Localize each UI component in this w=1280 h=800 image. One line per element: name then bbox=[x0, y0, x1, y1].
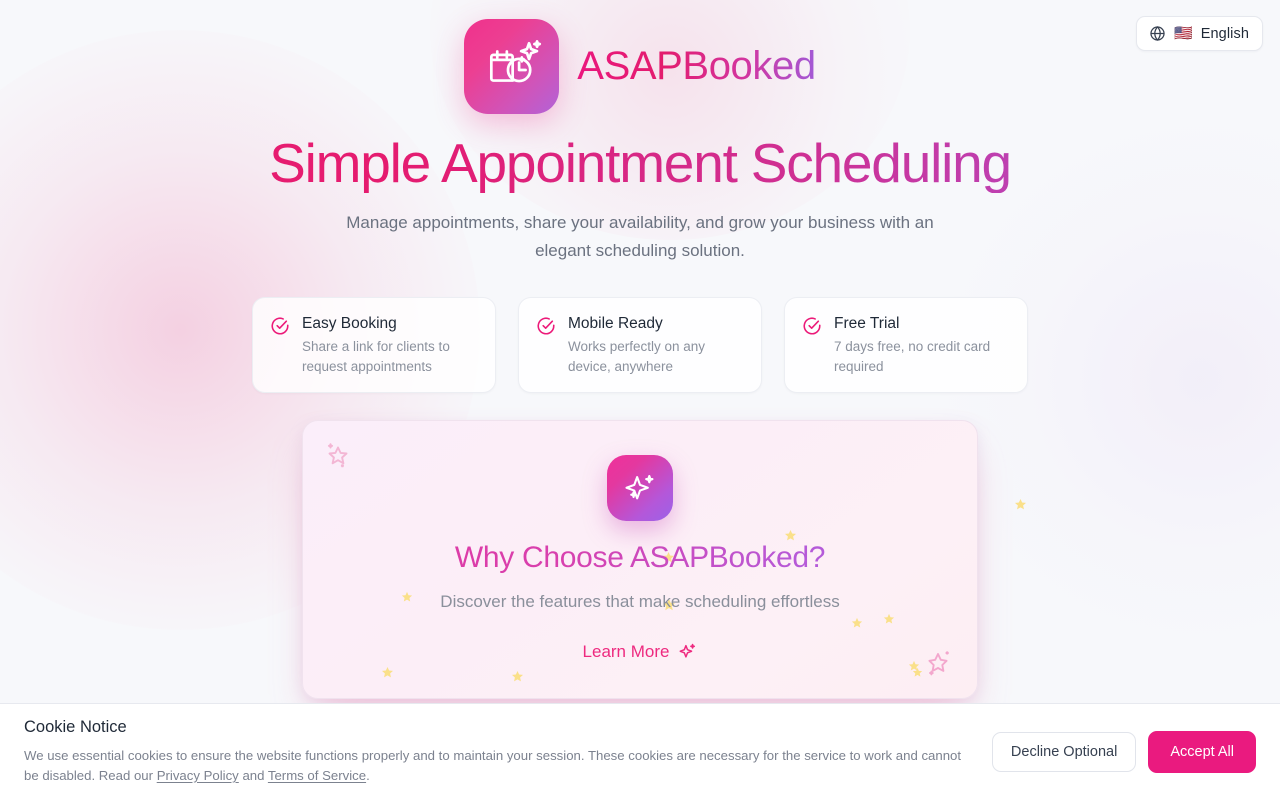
feature-card-list: Easy Booking Share a link for clients to… bbox=[0, 297, 1280, 392]
cookie-notice-title: Cookie Notice bbox=[24, 718, 970, 737]
feature-description: 7 days free, no credit card required bbox=[834, 337, 1010, 377]
sparkles-icon bbox=[678, 642, 697, 661]
cookie-body-part-3: . bbox=[366, 768, 370, 783]
language-label: English bbox=[1201, 26, 1249, 42]
cookie-notice-banner: Cookie Notice We use essential cookies t… bbox=[0, 703, 1280, 800]
page-title: Simple Appointment Scheduling bbox=[0, 134, 1280, 193]
promo-title: Why Choose ASAPBooked? bbox=[303, 541, 977, 575]
terms-of-service-link[interactable]: Terms of Service bbox=[268, 768, 366, 783]
hero-subtitle: Manage appointments, share your availabi… bbox=[320, 209, 960, 264]
globe-icon bbox=[1149, 25, 1166, 42]
feature-title: Free Trial bbox=[834, 314, 1010, 333]
learn-more-label: Learn More bbox=[583, 642, 670, 662]
cookie-notice-body: We use essential cookies to ensure the w… bbox=[24, 746, 970, 787]
circle-check-icon bbox=[802, 316, 822, 376]
decorative-star bbox=[511, 670, 524, 683]
feature-title: Mobile Ready bbox=[568, 314, 744, 333]
promo-card[interactable]: Why Choose ASAPBooked? Discover the feat… bbox=[302, 420, 978, 699]
calendar-clock-sparkle-icon bbox=[481, 36, 543, 98]
learn-more-link[interactable]: Learn More bbox=[583, 642, 698, 662]
decorative-star bbox=[851, 617, 863, 629]
cookie-body-part-2: and bbox=[239, 768, 268, 783]
decorative-star bbox=[1014, 498, 1027, 511]
brand-name: ASAPBooked bbox=[577, 44, 815, 89]
landing-page: 🇺🇸 English ASAPBooked Simple Appoint bbox=[0, 0, 1280, 800]
decorative-star bbox=[381, 666, 394, 679]
flag-icon: 🇺🇸 bbox=[1174, 26, 1193, 41]
sparkle-decoration-icon bbox=[923, 646, 955, 678]
promo-badge bbox=[607, 455, 673, 521]
app-logo[interactable] bbox=[464, 19, 559, 114]
feature-description: Share a link for clients to request appo… bbox=[302, 337, 478, 377]
decorative-star bbox=[883, 613, 895, 625]
feature-card-free-trial[interactable]: Free Trial 7 days free, no credit card r… bbox=[784, 297, 1028, 392]
cookie-notice-text: Cookie Notice We use essential cookies t… bbox=[24, 718, 992, 787]
language-switcher[interactable]: 🇺🇸 English bbox=[1136, 16, 1263, 51]
promo-subtitle: Discover the features that make scheduli… bbox=[303, 592, 977, 612]
privacy-policy-link[interactable]: Privacy Policy bbox=[157, 768, 239, 783]
brand-header: ASAPBooked bbox=[0, 0, 1280, 114]
feature-card-mobile-ready[interactable]: Mobile Ready Works perfectly on any devi… bbox=[518, 297, 762, 392]
cookie-notice-actions: Decline Optional Accept All bbox=[992, 731, 1256, 773]
circle-check-icon bbox=[270, 316, 290, 376]
decline-optional-button[interactable]: Decline Optional bbox=[992, 732, 1136, 772]
decorative-star bbox=[908, 660, 920, 672]
circle-check-icon bbox=[536, 316, 556, 376]
accept-all-button[interactable]: Accept All bbox=[1148, 731, 1256, 773]
promo-card-wrapper: Why Choose ASAPBooked? Discover the feat… bbox=[302, 420, 978, 699]
feature-card-easy-booking[interactable]: Easy Booking Share a link for clients to… bbox=[252, 297, 496, 392]
feature-title: Easy Booking bbox=[302, 314, 478, 333]
sparkle-decoration-icon bbox=[321, 439, 353, 471]
sparkles-icon bbox=[621, 469, 659, 507]
feature-description: Works perfectly on any device, anywhere bbox=[568, 337, 744, 377]
hero-section: Simple Appointment Scheduling Manage app… bbox=[0, 114, 1280, 264]
